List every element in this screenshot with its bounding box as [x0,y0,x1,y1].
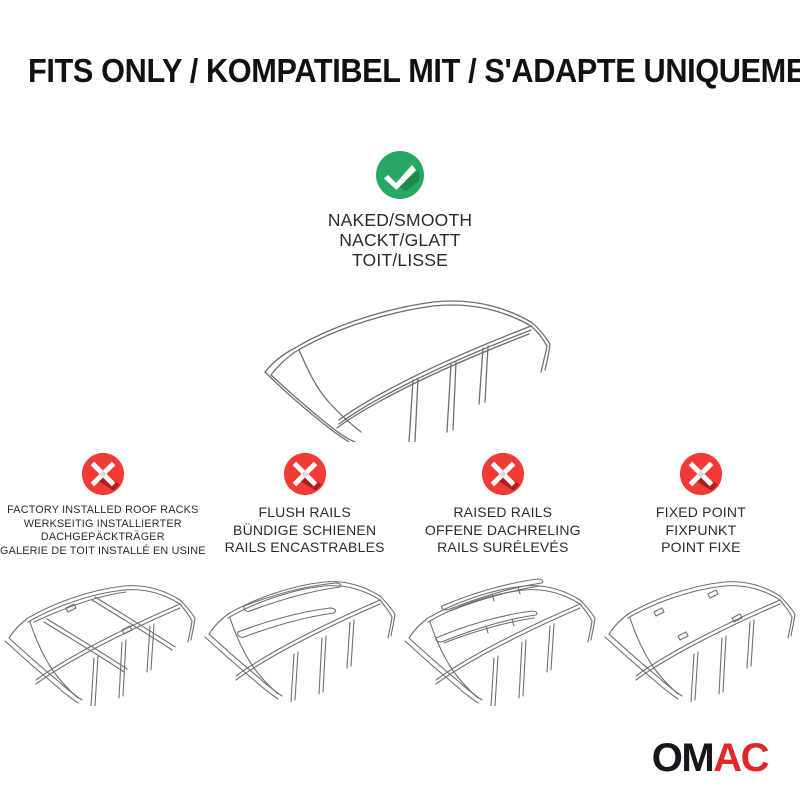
compatible-label-line-2: NACKT/GLATT [328,230,472,250]
label-line-1: FLUSH RAILS [225,504,385,522]
fixed-point-illustration [600,556,800,706]
incompatible-item-factory-roof-racks: FACTORY INSTALLED ROOF RACKS WERKSEITIG … [0,452,206,558]
compatible-section: NAKED/SMOOTH NACKT/GLATT TOIT/LISSE [0,150,800,270]
factory-roof-rack-illustration [0,556,200,706]
label-line-3: RAILS SURÉLEVÉS [425,539,581,557]
label-line-3: POINT FIXE [656,539,746,557]
cross-circle-icon [283,452,327,496]
label-line-3: RAILS ENCASTRABLES [225,539,385,557]
logo-text-dark: OM [652,736,713,780]
incompatible-illustrations [0,556,800,706]
incompatible-label: FIXED POINT FIXPUNKT POINT FIXE [656,504,746,557]
label-line-2: WERKSEITIG INSTALLIERTER [0,518,206,532]
compatible-label: NAKED/SMOOTH NACKT/GLATT TOIT/LISSE [328,210,472,270]
label-line-2: FIXPUNKT [656,522,746,540]
raised-rails-illustration [400,556,600,706]
logo-text-accent: AC [713,736,768,780]
label-line-1: RAISED RAILS [425,504,581,522]
fitment-infographic: FITS ONLY / KOMPATIBEL MIT / S'ADAPTE UN… [0,0,800,800]
label-line-1: FACTORY INSTALLED ROOF RACKS [0,504,206,518]
incompatible-item-raised-rails: RAISED RAILS OFFENE DACHRELING RAILS SUR… [404,452,602,557]
label-line-2: OFFENE DACHRELING [425,522,581,540]
cross-circle-icon [679,452,723,496]
flush-rails-illustration [200,556,400,706]
page-title: FITS ONLY / KOMPATIBEL MIT / S'ADAPTE UN… [28,52,772,90]
label-line-1: FIXED POINT [656,504,746,522]
incompatible-label: FLUSH RAILS BÜNDIGE SCHIENEN RAILS ENCAS… [225,504,385,557]
smooth-roof-illustration [255,282,565,442]
incompatible-item-fixed-point: FIXED POINT FIXPUNKT POINT FIXE [602,452,800,557]
incompatible-label: RAISED RAILS OFFENE DACHRELING RAILS SUR… [425,504,581,557]
incompatible-label: FACTORY INSTALLED ROOF RACKS WERKSEITIG … [0,504,206,558]
incompatible-section: FACTORY INSTALLED ROOF RACKS WERKSEITIG … [0,452,800,558]
cross-circle-icon [481,452,525,496]
cross-circle-icon [81,452,125,496]
label-line-2: BÜNDIGE SCHIENEN [225,522,385,540]
check-circle-icon [375,150,425,200]
compatible-label-line-3: TOIT/LISSE [328,250,472,270]
incompatible-item-flush-rails: FLUSH RAILS BÜNDIGE SCHIENEN RAILS ENCAS… [206,452,404,557]
compatible-label-line-1: NAKED/SMOOTH [328,210,472,230]
label-line-3: DACHGEPÄCKTRÄGER [0,531,206,545]
omac-logo: OMAC [652,738,768,778]
